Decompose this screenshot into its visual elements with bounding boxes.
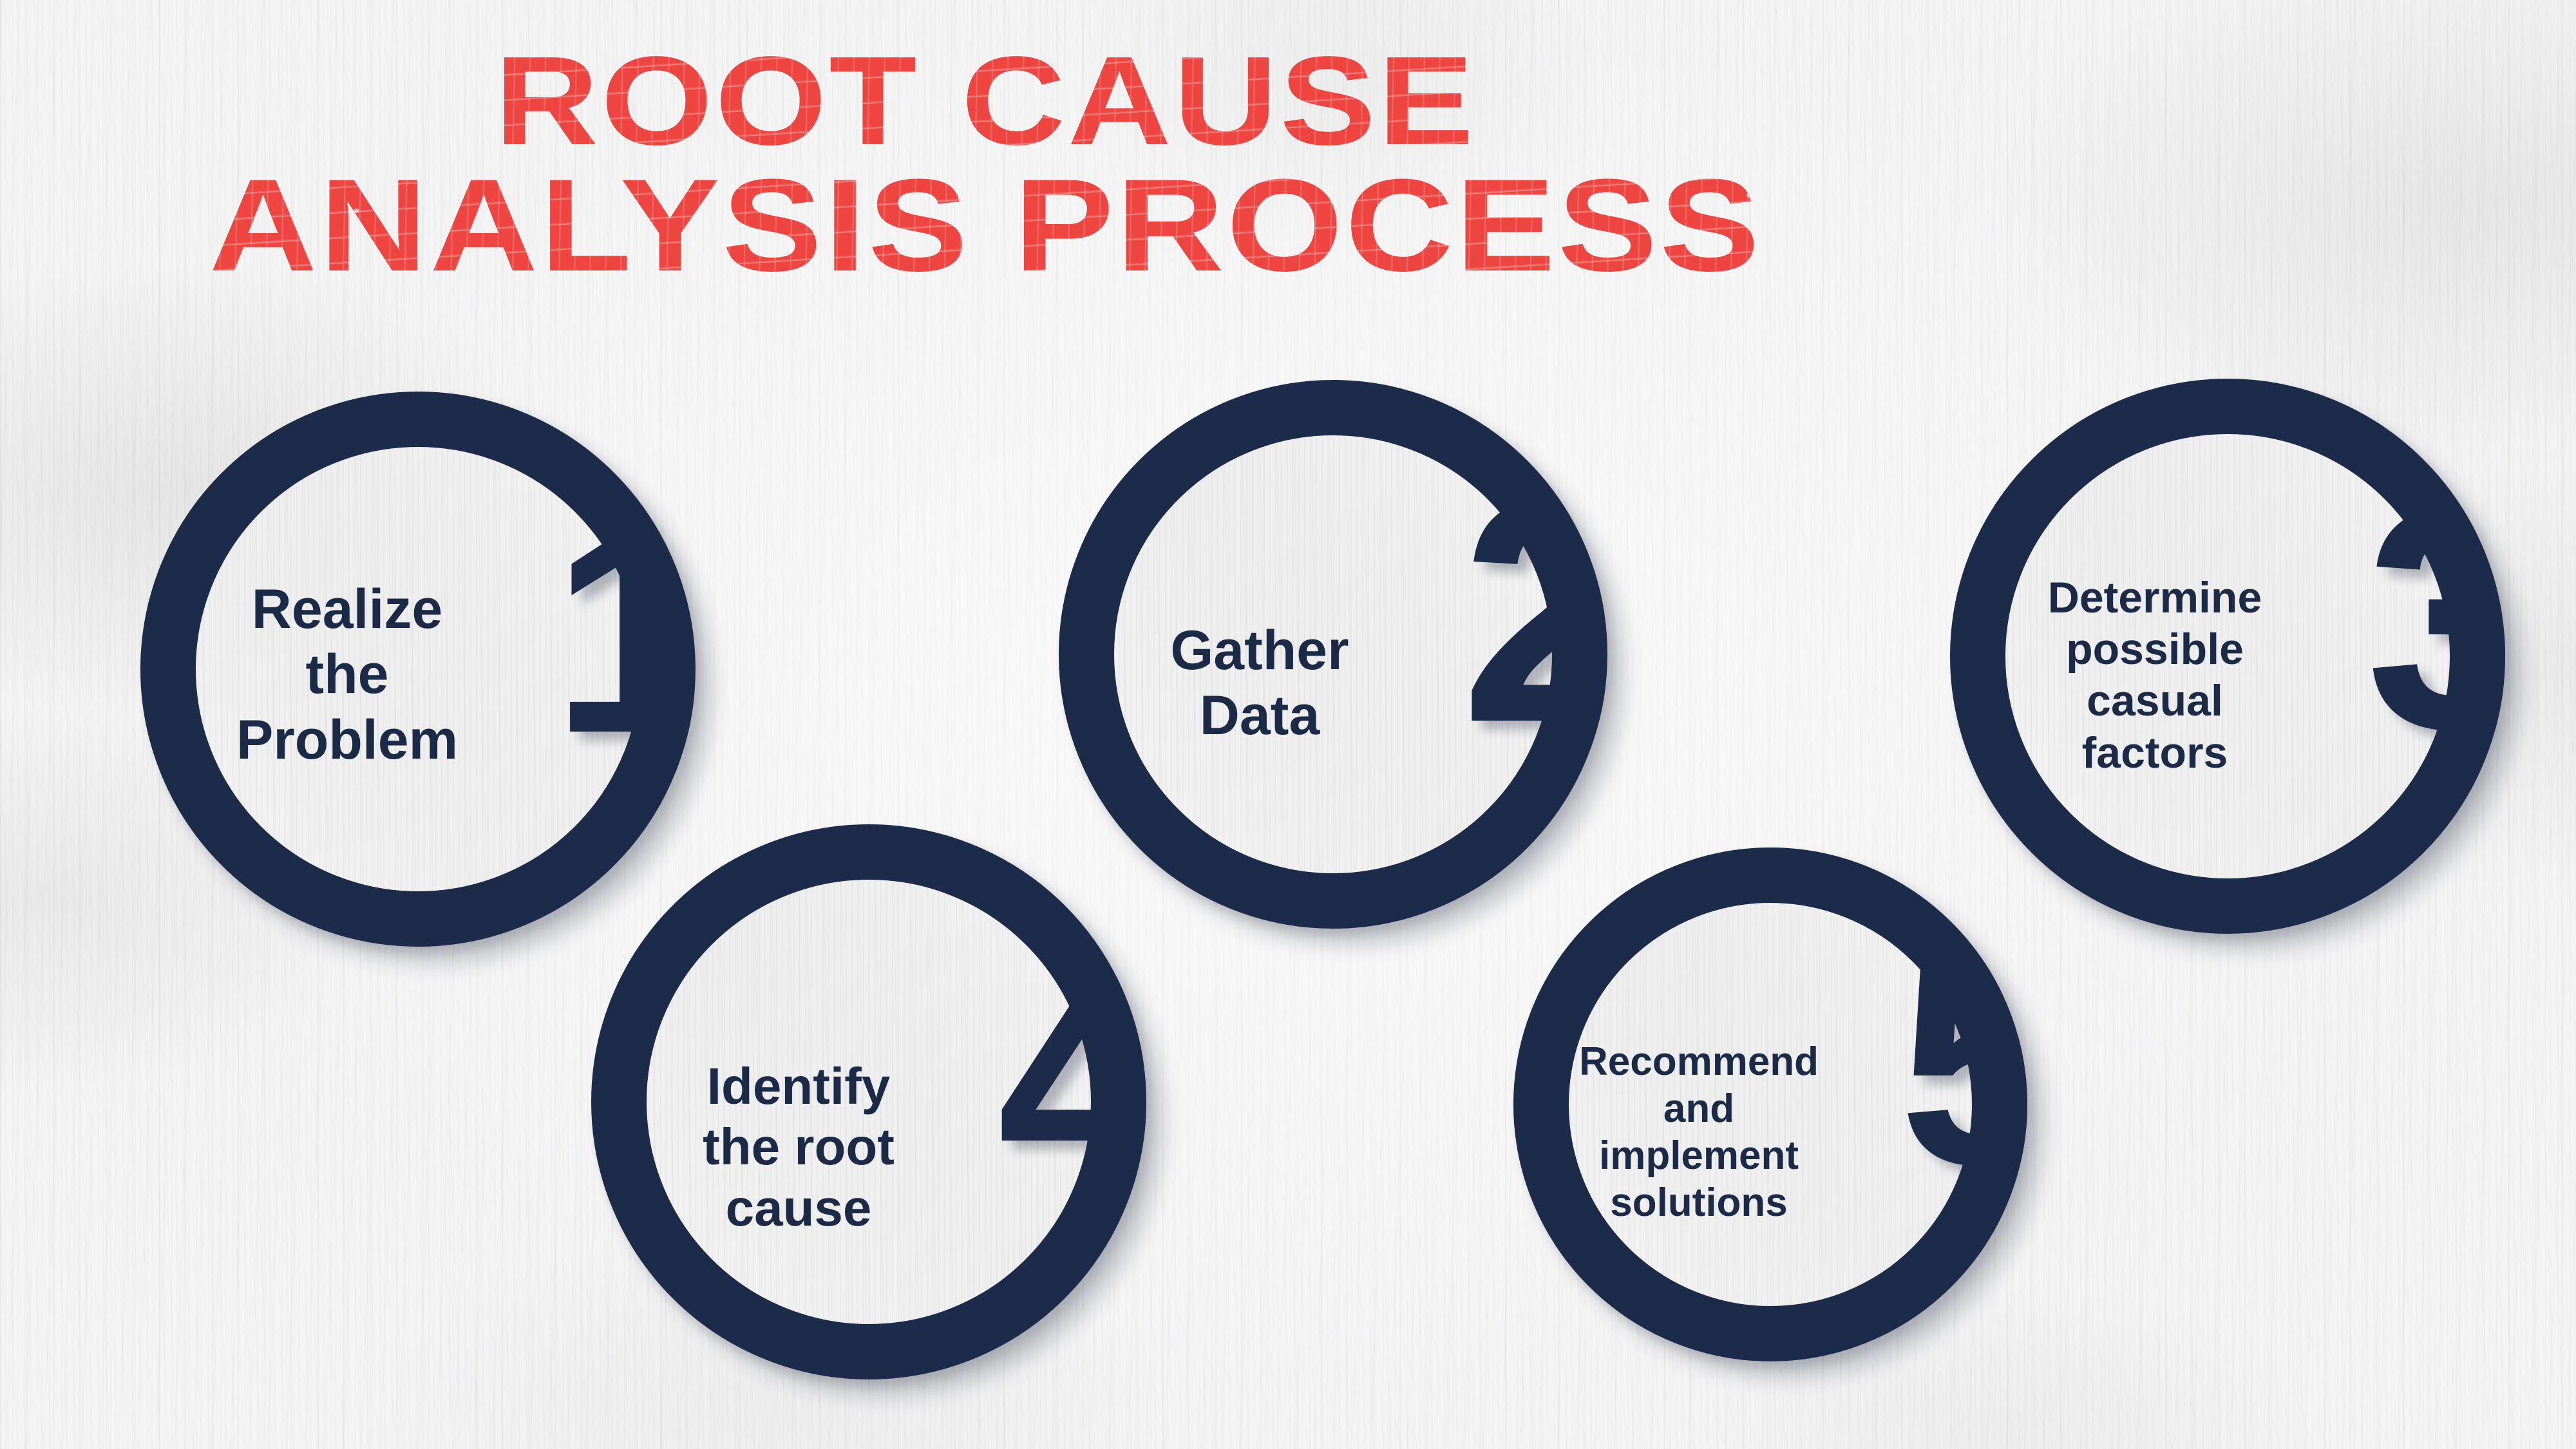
page-title: ROOT CAUSE ANALYSIS PROCESS (0, 40, 1971, 290)
step-circle-4[interactable]: 4 Identify the root cause (591, 824, 1146, 1379)
step-circle-3[interactable]: 3 Determine possible casual factors (1950, 379, 2505, 934)
step-3-inner-disc (2005, 434, 2450, 878)
step-5-inner-disc (1569, 903, 1972, 1306)
step-circle-5[interactable]: 5 Recommend and implement solutions (1513, 848, 2027, 1361)
step-2-inner-disc (1114, 435, 1552, 873)
step-5-disc-texture (1569, 903, 1972, 1306)
step-4-disc-texture (647, 880, 1091, 1324)
step-1-inner-disc (196, 447, 640, 891)
step-4-inner-disc (647, 880, 1091, 1324)
step-3-disc-texture (2005, 434, 2450, 878)
page-title-line-1: ROOT CAUSE (0, 40, 2108, 162)
infographic-canvas: ROOT CAUSE ANALYSIS PROCESS 1 Realize th… (0, 0, 2576, 1449)
step-1-disc-texture (196, 447, 640, 891)
page-title-line-2: ANALYSIS PROCESS (0, 162, 2108, 290)
step-2-disc-texture (1114, 435, 1552, 873)
